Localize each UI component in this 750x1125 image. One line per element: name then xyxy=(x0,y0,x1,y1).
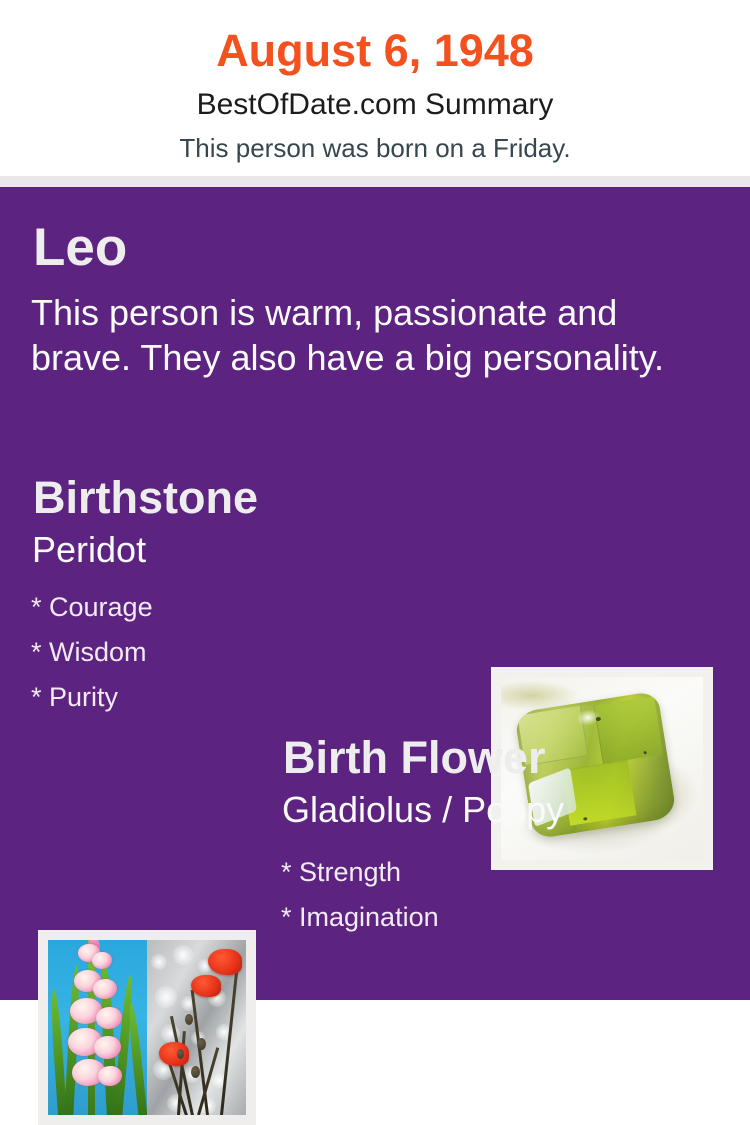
header: August 6, 1948 BestOfDate.com Summary Th… xyxy=(0,0,750,176)
gladiolus-photo-half xyxy=(48,940,147,1115)
page-title-date: August 6, 1948 xyxy=(0,0,750,73)
bokeh-dot xyxy=(151,954,167,970)
header-divider xyxy=(0,176,750,187)
birth-weekday-label: This person was born on a Friday. xyxy=(0,120,750,161)
poppy-bud xyxy=(191,1066,200,1078)
poppy-bud xyxy=(185,1014,193,1025)
gladiolus-bloom xyxy=(98,1066,122,1086)
poppy-stem xyxy=(191,990,209,1115)
list-item: * Courage xyxy=(31,585,331,630)
details-panel: Leo This person is warm, passionate and … xyxy=(0,187,750,1000)
list-item: * Wisdom xyxy=(31,630,331,675)
list-item: * Purity xyxy=(31,675,331,720)
gladiolus-bloom xyxy=(93,979,117,999)
poppy-flower-head xyxy=(159,1042,189,1066)
poppy-flower-head xyxy=(191,975,221,997)
poppy-photo-half xyxy=(147,940,246,1115)
gladiolus-poppy-photo xyxy=(48,940,246,1115)
birth-flower-name: Gladiolus / Poppy xyxy=(282,792,564,828)
site-name-label: BestOfDate.com Summary xyxy=(0,73,750,120)
poppy-bud xyxy=(197,1038,206,1050)
summary-card: August 6, 1948 BestOfDate.com Summary Th… xyxy=(0,0,750,1000)
birthstone-trait-list: * Courage * Wisdom * Purity xyxy=(31,585,331,720)
gem-facet xyxy=(594,696,664,764)
gem-inclusion xyxy=(596,716,602,721)
bokeh-dot xyxy=(173,945,193,965)
list-item: * Strength xyxy=(281,850,711,895)
birth-flower-trait-list: * Strength * Imagination xyxy=(281,850,711,940)
birthstone-name: Peridot xyxy=(32,532,146,568)
poppy-flower-head xyxy=(208,949,242,975)
zodiac-description: This person is warm, passionate and brav… xyxy=(31,290,701,380)
poppy-bud xyxy=(177,1049,184,1059)
gladiolus-bloom xyxy=(92,952,112,969)
list-item: * Imagination xyxy=(281,895,711,940)
bokeh-dot xyxy=(155,986,177,1008)
zodiac-sign-title: Leo xyxy=(33,221,127,274)
gladiolus-bloom xyxy=(94,1036,121,1059)
birth-flower-heading: Birth Flower xyxy=(283,735,546,780)
birth-flower-image-frame xyxy=(38,930,256,1125)
birthstone-heading: Birthstone xyxy=(33,475,258,520)
leaf-shape xyxy=(127,1003,147,1115)
gladiolus-bloom xyxy=(96,1007,122,1029)
